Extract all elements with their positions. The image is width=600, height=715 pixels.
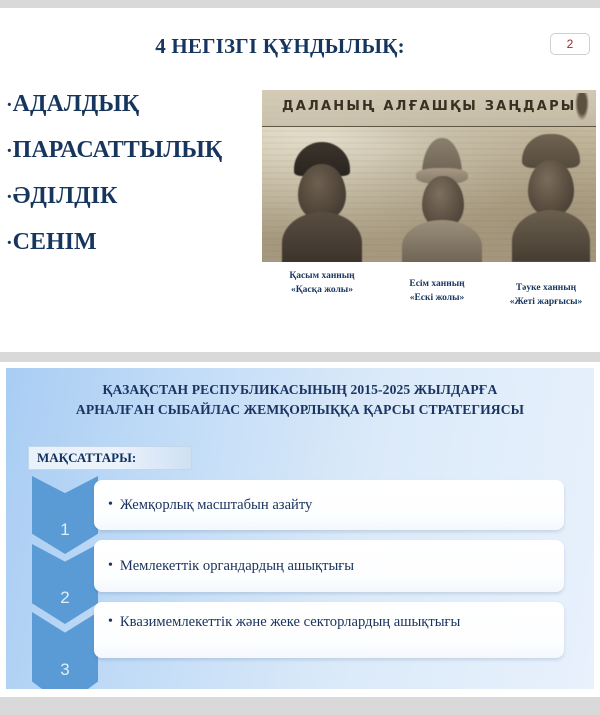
bullet-icon: •: [108, 557, 113, 575]
bullet-dot-icon: ·: [6, 186, 13, 208]
bullet-dot-icon: ·: [6, 232, 13, 254]
chevron-step-1: 1: [32, 476, 98, 554]
goal-item-2[interactable]: • Мемлекеттік органдардың ашықтығы: [94, 540, 564, 592]
torso-shape: [402, 220, 482, 262]
list-item: ·АДАЛДЫҚ: [6, 92, 256, 116]
step-number: 2: [32, 588, 98, 608]
list-item: ·СЕНІМ: [6, 230, 256, 254]
goal-text: Квазимемлекеттік және жеке секторлардың …: [120, 613, 552, 632]
goal-box-list: • Жемқорлық масштабын азайту • Мемлекетт…: [94, 480, 572, 668]
bullet-icon: •: [108, 613, 113, 631]
caption-line-2: «Қасқа жолы»: [262, 284, 382, 298]
slide-3-title: ҚАЗАҚСТАН РЕСПУБЛИКАСЫНЫҢ 2015-2025 ЖЫЛД…: [14, 380, 586, 421]
caption-esim: Есім ханның «Ескі жолы»: [382, 278, 492, 306]
goals-label: МАҚСАТТАРЫ:: [28, 446, 192, 470]
bullet-dot-icon: ·: [6, 140, 13, 162]
portrait-kasym-khan: [276, 142, 368, 262]
slide-3-canvas: ҚАЗАҚСТАН РЕСПУБЛИКАСЫНЫҢ 2015-2025 ЖЫЛД…: [6, 368, 594, 689]
goal-text: Жемқорлық масштабын азайту: [120, 496, 552, 515]
torso-shape: [282, 212, 362, 262]
caption-line-1: Қасым ханның: [262, 270, 382, 284]
title-line-1: ҚАЗАҚСТАН РЕСПУБЛИКАСЫНЫҢ 2015-2025 ЖЫЛД…: [14, 380, 586, 400]
step-number: 3: [32, 660, 98, 680]
khans-parchment-image: ДАЛАНЫҢ АЛҒАШҚЫ ЗАҢДАРЫ: [262, 90, 596, 262]
figure-banner-title: ДАЛАНЫҢ АЛҒАШҚЫ ЗАҢДАРЫ: [282, 99, 576, 114]
portrait-esim-khan: [398, 140, 486, 262]
goal-text: Мемлекеттік органдардың ашықтығы: [120, 557, 552, 576]
step-number: 1: [32, 520, 98, 540]
list-item: ·ПАРАСАТТЫЛЫҚ: [6, 138, 256, 162]
face-shape: [528, 160, 574, 216]
caption-tauke: Тәуке ханның «Жеті жарғысы»: [490, 282, 600, 310]
title-line-2: АРНАЛҒАН СЫБАЙЛАС ЖЕМҚОРЛЫҚҚА ҚАРСЫ СТРА…: [14, 400, 586, 420]
chevron-step-2: 2: [32, 544, 98, 624]
value-label: ӘДІЛДІК: [13, 183, 118, 209]
caption-kasym: Қасым ханның «Қасқа жолы»: [262, 270, 382, 298]
value-label: АДАЛДЫҚ: [13, 91, 140, 117]
caption-line-1: Есім ханның: [382, 278, 492, 292]
slide-2[interactable]: 2 4 НЕГІЗГІ ҚҰНДЫЛЫҚ: ·АДАЛДЫҚ ·ПАРАСАТТ…: [0, 8, 600, 352]
figure-banner: ДАЛАНЫҢ АЛҒАШҚЫ ЗАҢДАРЫ: [262, 90, 596, 127]
eagle-watermark-icon: [574, 93, 590, 123]
figure-captions: Қасым ханның «Қасқа жолы» Есім ханның «Е…: [262, 270, 600, 314]
torso-shape: [512, 210, 590, 262]
slide-3[interactable]: ҚАЗАҚСТАН РЕСПУБЛИКАСЫНЫҢ 2015-2025 ЖЫЛД…: [0, 362, 600, 697]
core-values-list: ·АДАЛДЫҚ ·ПАРАСАТТЫЛЫҚ ·ӘДІЛДІК ·СЕНІМ: [6, 92, 256, 276]
value-label: СЕНІМ: [13, 229, 97, 255]
portrait-tauke-khan: [510, 134, 592, 262]
bullet-dot-icon: ·: [6, 94, 13, 116]
caption-line-2: «Жеті жарғысы»: [490, 296, 600, 310]
list-item: ·ӘДІЛДІК: [6, 184, 256, 208]
bullet-icon: •: [108, 496, 113, 514]
value-label: ПАРАСАТТЫЛЫҚ: [13, 137, 223, 163]
goal-item-3[interactable]: • Квазимемлекеттік және жеке секторларды…: [94, 602, 564, 658]
goal-item-1[interactable]: • Жемқорлық масштабын азайту: [94, 480, 564, 530]
caption-line-2: «Ескі жолы»: [382, 292, 492, 306]
caption-line-1: Тәуке ханның: [490, 282, 600, 296]
chevron-stack: 1 2 3: [32, 476, 98, 682]
slide-2-title: 4 НЕГІЗГІ ҚҰНДЫЛЫҚ:: [0, 34, 560, 59]
slide-deck: 2 4 НЕГІЗГІ ҚҰНДЫЛЫҚ: ·АДАЛДЫҚ ·ПАРАСАТТ…: [0, 0, 600, 715]
